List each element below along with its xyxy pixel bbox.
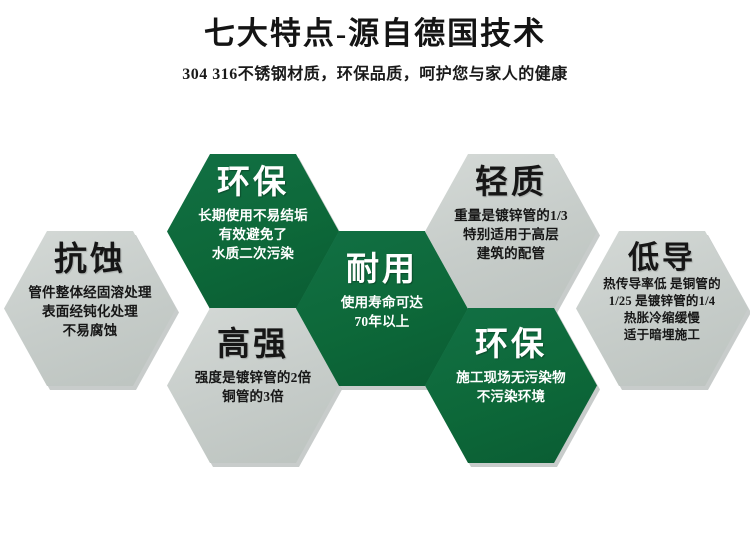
hex-lines-huanbao-top: 长期使用不易结垢 有效避免了 水质二次污染 — [198, 206, 308, 263]
hex-lines-naiyong: 使用寿命可达 70年以上 — [341, 293, 423, 331]
hex-line: 不易腐蚀 — [28, 321, 151, 340]
hex-lines-didao: 热传导率低 是铜管的 1/25 是镀锌管的1/4 热胀冷缩缓慢 适于暗埋施工 — [603, 276, 721, 344]
hex-line: 不污染环境 — [456, 387, 566, 406]
hexagon-infographic: 抗蚀 管件整体经固溶处理 表面经钝化处理 不易腐蚀 环保 长期使用不易结垢 有效… — [0, 0, 750, 533]
hex-line: 重量是镀锌管的1/3 — [454, 206, 568, 225]
hex-line: 长期使用不易结垢 — [198, 206, 308, 225]
hex-title-huanbao-bottom: 环保 — [475, 328, 547, 364]
hex-line: 适于暗埋施工 — [603, 327, 721, 344]
hex-line: 使用寿命可达 — [341, 293, 423, 312]
hex-line: 表面经钝化处理 — [28, 302, 151, 321]
hex-line: 1/25 是镀锌管的1/4 — [603, 293, 721, 310]
hex-lines-qingzhi: 重量是镀锌管的1/3 特别适用于高层 建筑的配管 — [454, 206, 568, 263]
hex-line: 70年以上 — [341, 312, 423, 331]
hex-title-didao: 低导 — [628, 241, 696, 274]
hex-lines-gaoqiang: 强度是镀锌管的2倍 铜管的3倍 — [195, 368, 312, 406]
hex-line: 铜管的3倍 — [195, 387, 312, 406]
hex-title-huanbao-top: 环保 — [217, 166, 289, 202]
hex-line: 特别适用于高层 — [454, 225, 568, 244]
hex-title-naiyong: 耐用 — [346, 253, 418, 289]
hex-line: 有效避免了 — [198, 225, 308, 244]
hex-line: 施工现场无污染物 — [456, 368, 566, 387]
hex-title-qingzhi: 轻质 — [475, 166, 547, 202]
hex-line: 水质二次污染 — [198, 244, 308, 263]
hex-lines-huanbao-bottom: 施工现场无污染物 不污染环境 — [456, 368, 566, 406]
hex-line: 强度是镀锌管的2倍 — [195, 368, 312, 387]
hex-title-gaoqiang: 高强 — [217, 328, 289, 364]
hex-line: 管件整体经固溶处理 — [28, 283, 151, 302]
hex-title-kangshi: 抗蚀 — [54, 243, 126, 279]
hex-line: 热传导率低 是铜管的 — [603, 276, 721, 293]
hex-line: 热胀冷缩缓慢 — [603, 310, 721, 327]
hex-lines-kangshi: 管件整体经固溶处理 表面经钝化处理 不易腐蚀 — [28, 283, 151, 340]
hex-line: 建筑的配管 — [454, 244, 568, 263]
